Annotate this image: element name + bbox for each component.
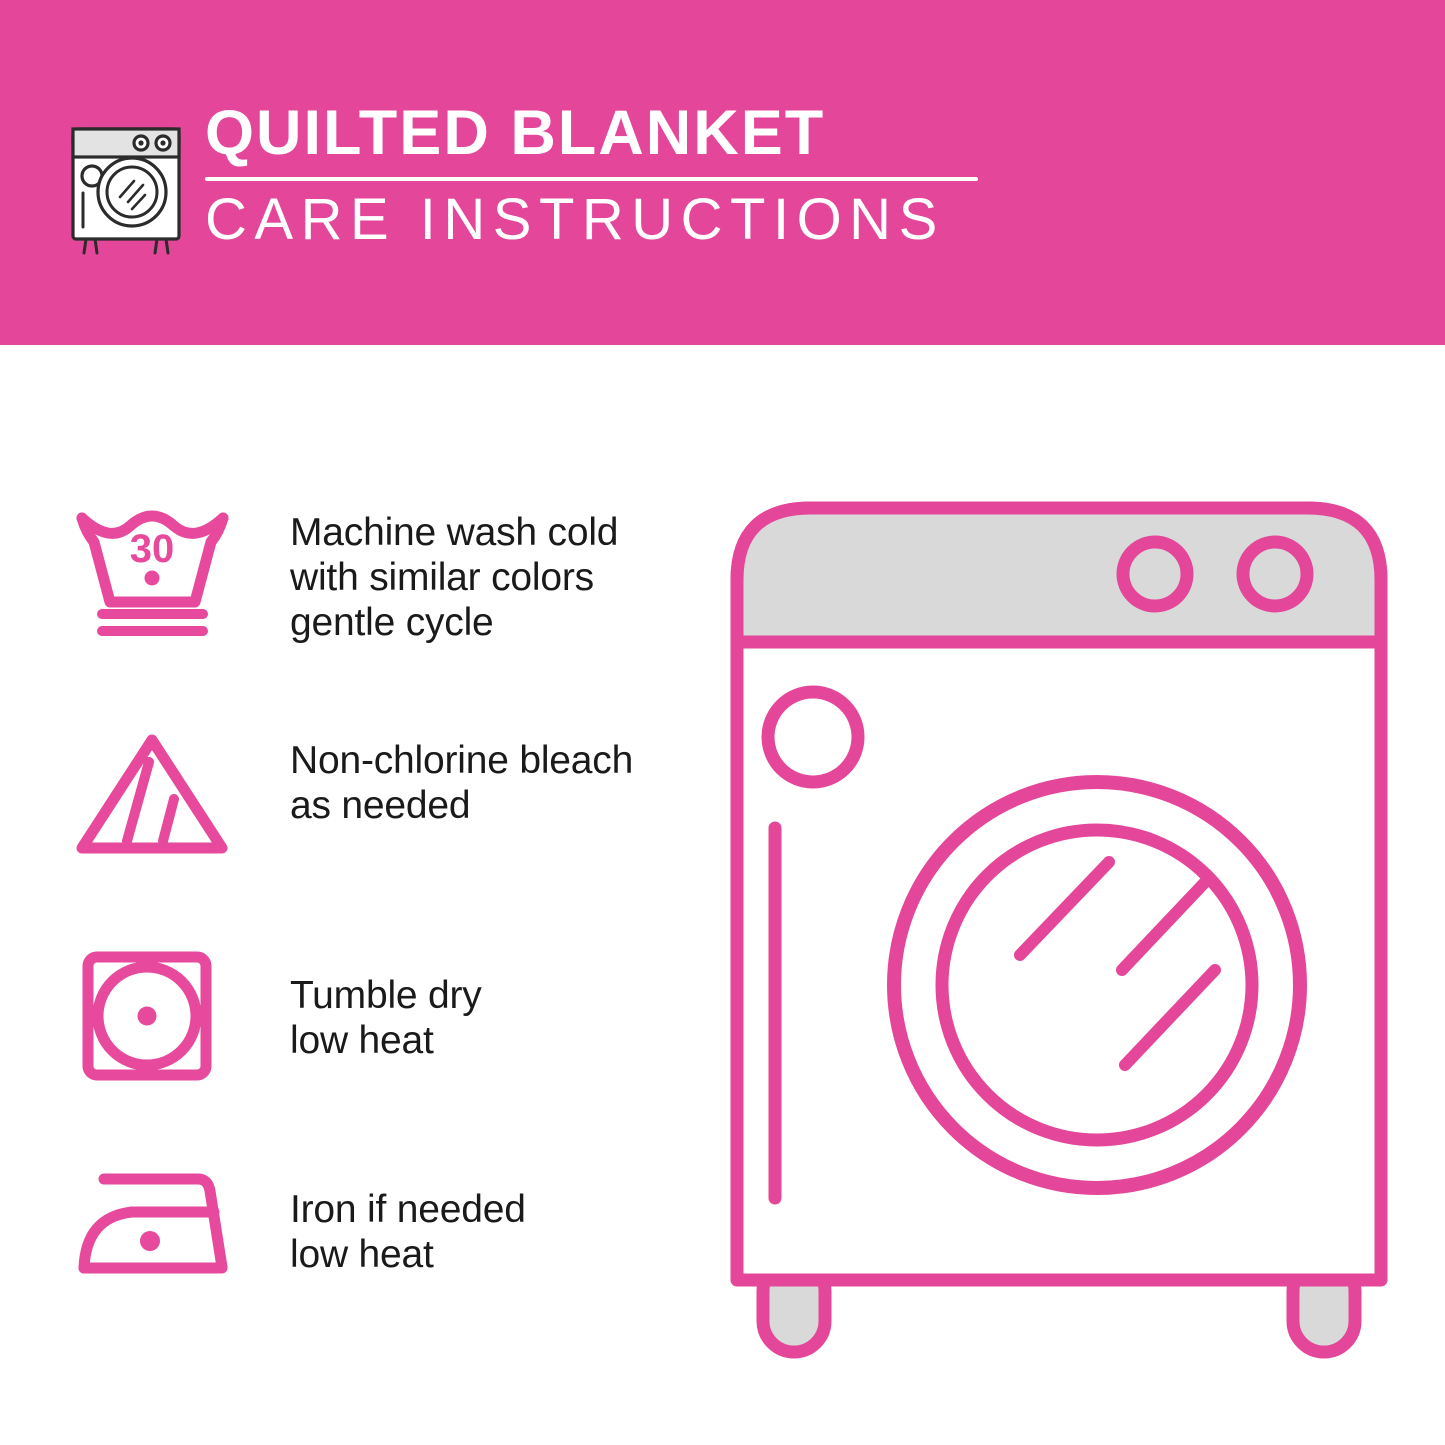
care-label-wash: Machine wash cold with similar colors ge… [290, 510, 618, 646]
care-label-iron: Iron if needed low heat [290, 1187, 526, 1277]
knob-left [1123, 542, 1187, 606]
care-label-bleach: Non-chlorine bleach as needed [290, 738, 633, 828]
svg-text:30: 30 [130, 527, 175, 571]
care-row-tumble-dry: Tumble dry low heat [0, 945, 700, 1105]
page-title: QUILTED BLANKET [205, 100, 990, 166]
front-load-washing-machine-illustration [715, 470, 1405, 1370]
header-banner: QUILTED BLANKET CARE INSTRUCTIONS [0, 0, 1445, 345]
tumble-dry-low-icon [70, 947, 235, 1087]
non-chlorine-bleach-triangle-icon [70, 728, 235, 863]
care-instruction-list: 30 Machine wash cold with similar colors… [0, 345, 700, 1445]
care-row-bleach: Non-chlorine bleach as needed [0, 720, 700, 880]
page-subtitle: CARE INSTRUCTIONS [205, 190, 990, 251]
iron-low-heat-icon [70, 1167, 245, 1292]
title-divider [205, 177, 978, 181]
knob-right [1243, 542, 1307, 606]
care-row-wash: 30 Machine wash cold with similar colors… [0, 500, 700, 680]
care-row-iron: Iron if needed low heat [0, 1155, 700, 1315]
header-text-block: QUILTED BLANKET CARE INSTRUCTIONS [205, 100, 990, 251]
detergent-port [768, 692, 858, 782]
washing-machine-icon [64, 103, 188, 255]
care-label-tumble-dry: Tumble dry low heat [290, 973, 482, 1063]
wash-tub-30-gentle-icon: 30 [70, 500, 235, 645]
